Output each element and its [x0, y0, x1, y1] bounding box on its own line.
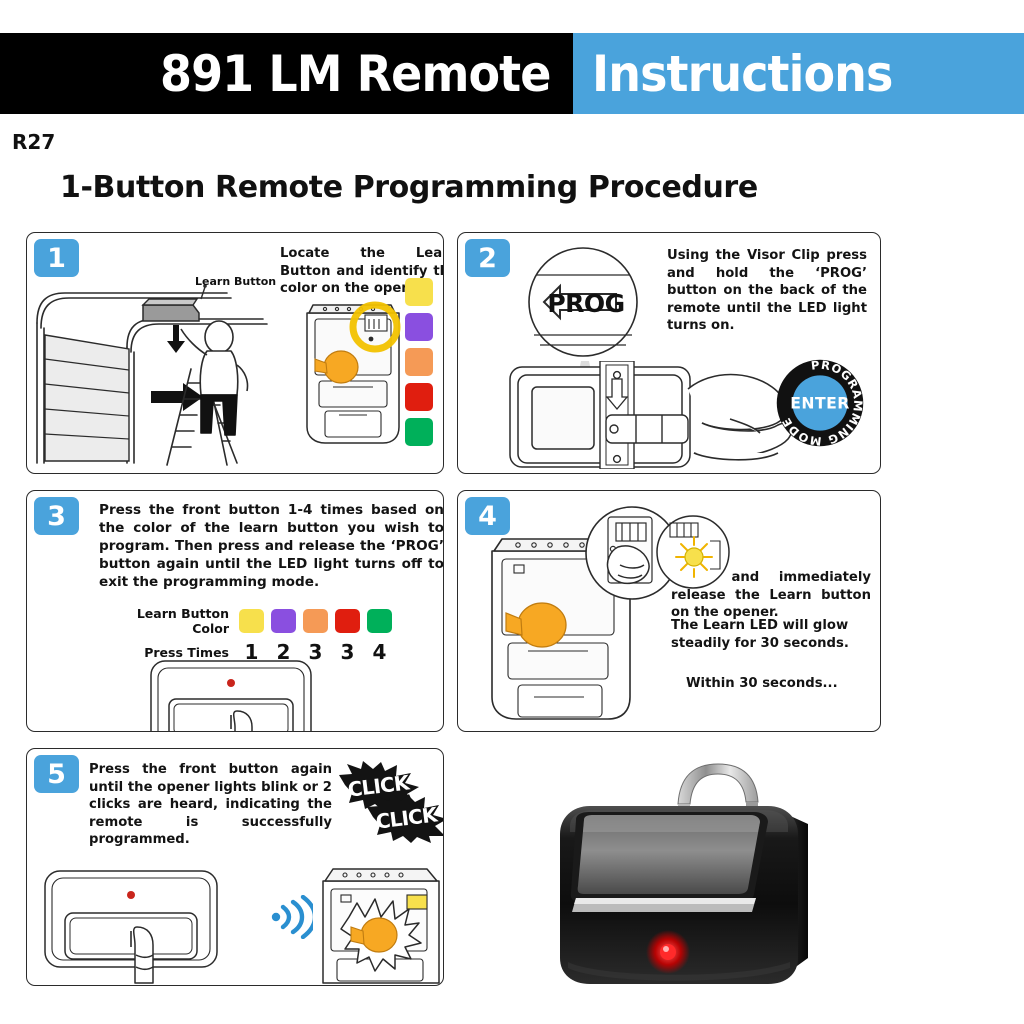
header-dark-section: 891 LM Remote — [0, 33, 573, 114]
prog-magnifier-illustration: PROG — [520, 239, 646, 365]
step-panel-4: 4 Press and immediately release the Lear… — [457, 490, 881, 732]
learn-button-callout-label: Learn Button — [195, 275, 276, 288]
table-cell-color-5 — [367, 609, 392, 633]
step-5-text: Press the front button again until the o… — [89, 761, 332, 849]
opener-unit-illustration — [299, 295, 407, 445]
learn-led-glow-magnifier — [654, 513, 732, 591]
step-panel-1: 1 Locate the Learn Button and identify t… — [26, 232, 444, 474]
header-banner: 891 LM Remote Instructions — [0, 33, 1024, 114]
swatch-purple — [405, 313, 433, 341]
press-times-4: 3 — [335, 641, 360, 663]
table-cell-color-2 — [271, 609, 296, 633]
remote-front-press-illustration-2 — [41, 869, 227, 985]
swatch-yellow — [239, 609, 264, 633]
step-2-text: Using the Visor Clip press and hold the … — [667, 247, 867, 335]
press-times-5: 4 — [367, 641, 392, 663]
table-cell-color-4 — [335, 609, 360, 633]
garage-door-illustration — [31, 273, 291, 471]
step-4-text-c: Within 30 seconds... — [686, 675, 876, 693]
revision-code: R27 — [12, 130, 55, 154]
led-indicator — [646, 930, 690, 974]
header-title-model: 891 LM Remote — [159, 49, 550, 99]
badge-center-text: ENTER — [790, 394, 849, 413]
remote-button — [578, 815, 760, 894]
swatch-red — [335, 609, 360, 633]
step-panel-3: 3 Press the front button 1-4 times based… — [26, 490, 444, 732]
product-photo-remote — [540, 762, 890, 1002]
learn-color-press-times-table: Learn Button Color Press Times 1 2 3 3 4 — [101, 606, 401, 663]
opener-lights-blink-illustration — [321, 859, 444, 985]
header-blue-section: Instructions — [573, 33, 1024, 114]
table-row-label-color: Learn Button Color — [101, 606, 239, 636]
step-panel-5: 5 Press the front button again until the… — [26, 748, 444, 986]
learn-button-color-swatches — [405, 278, 433, 446]
step-badge-3: 3 — [34, 497, 79, 535]
prog-magnifier-label: PROG — [547, 289, 624, 318]
table-cell-color-1 — [239, 609, 264, 633]
remote-front-press-illustration — [147, 659, 327, 732]
swatch-orange — [303, 609, 328, 633]
signal-waves-icon — [271, 895, 313, 939]
swatch-purple — [271, 609, 296, 633]
table-cell-color-3 — [303, 609, 328, 633]
swatch-green — [367, 609, 392, 633]
table-row-label-press-times: Press Times — [101, 645, 239, 660]
step-badge-2: 2 — [465, 239, 510, 277]
step-3-text: Press the front button 1-4 times based o… — [99, 501, 444, 591]
swatch-red — [405, 383, 433, 411]
step-badge-1: 1 — [34, 239, 79, 277]
swatch-yellow — [405, 278, 433, 306]
swatch-orange — [405, 348, 433, 376]
table-row-colors: Learn Button Color — [101, 606, 401, 636]
click-sound-effect-2: CLICK — [367, 793, 444, 843]
step-panel-2: 2 Using the Visor Clip press and hold th… — [457, 232, 881, 474]
step-badge-5: 5 — [34, 755, 79, 793]
swatch-green — [405, 418, 433, 446]
page-title: 1-Button Remote Programming Procedure — [60, 170, 960, 205]
header-title-instructions: Instructions — [592, 49, 892, 99]
step-4-text-b: The Learn LED will glow steadily for 30 … — [671, 617, 871, 652]
remote-back-with-hand-illustration — [506, 361, 806, 469]
programming-mode-enter-badge: PROGRAMMING MODE ENTER — [774, 357, 866, 449]
